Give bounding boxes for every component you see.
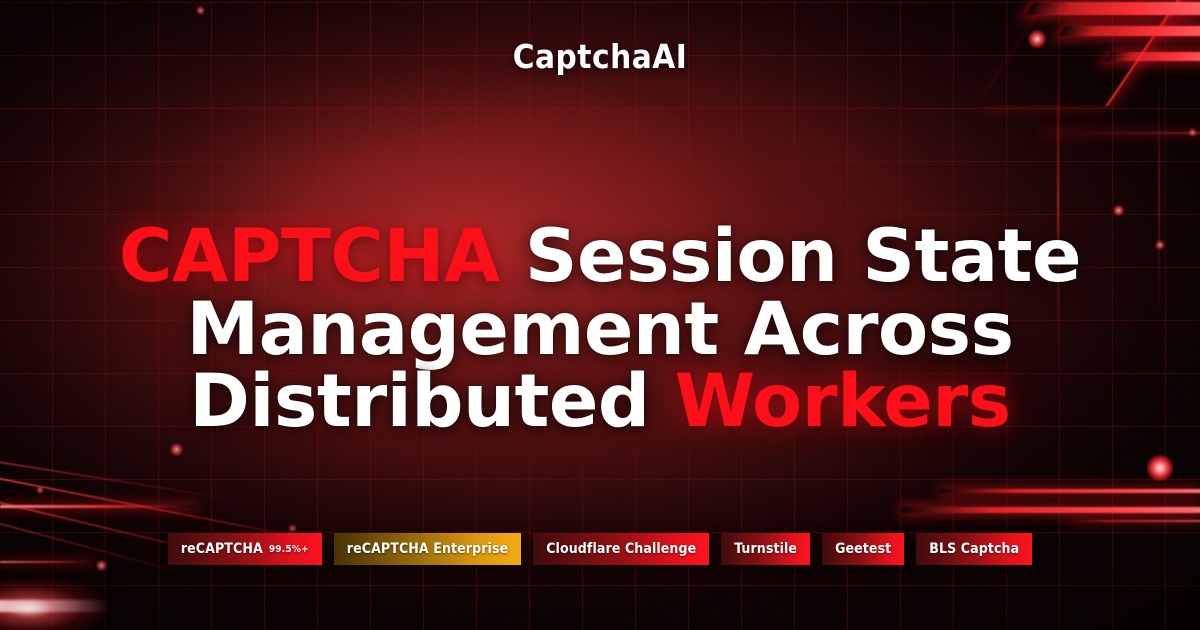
captcha-badge[interactable]: Geetest (822, 533, 904, 565)
headline-line-1: CAPTCHA Session State (58, 221, 1142, 294)
captcha-badge-accuracy: 99.5%+ (269, 544, 309, 555)
headline-line-2: Management Across (58, 294, 1142, 367)
headline-line-3-rest: Distributed (189, 359, 674, 444)
captcha-badge-label: BLS Captcha (929, 541, 1019, 557)
cover-canvas: CaptchaAI CAPTCHA Session State Manageme… (0, 0, 1200, 630)
captcha-badge[interactable]: Cloudflare Challenge (533, 533, 709, 565)
captcha-badge-label: Turnstile (734, 541, 797, 557)
captcha-badge-label: Geetest (835, 541, 891, 557)
headline-accent-workers: Workers (675, 359, 1011, 444)
captcha-badge-label: Cloudflare Challenge (546, 541, 696, 557)
captcha-type-badge-row: reCAPTCHA99.5%+reCAPTCHA EnterpriseCloud… (0, 533, 1200, 565)
captcha-badge-label: reCAPTCHA (181, 541, 263, 557)
brand-logo: CaptchaAI (0, 37, 1200, 76)
headline-line-3: Distributed Workers (58, 366, 1142, 439)
captcha-badge[interactable]: reCAPTCHA Enterprise (334, 533, 521, 565)
captcha-badge[interactable]: Turnstile (721, 533, 810, 565)
captcha-badge[interactable]: reCAPTCHA99.5%+ (168, 533, 322, 565)
page-title: CAPTCHA Session State Management Across … (0, 221, 1200, 439)
captcha-badge[interactable]: BLS Captcha (916, 533, 1032, 565)
captcha-badge-label: reCAPTCHA Enterprise (347, 541, 508, 557)
